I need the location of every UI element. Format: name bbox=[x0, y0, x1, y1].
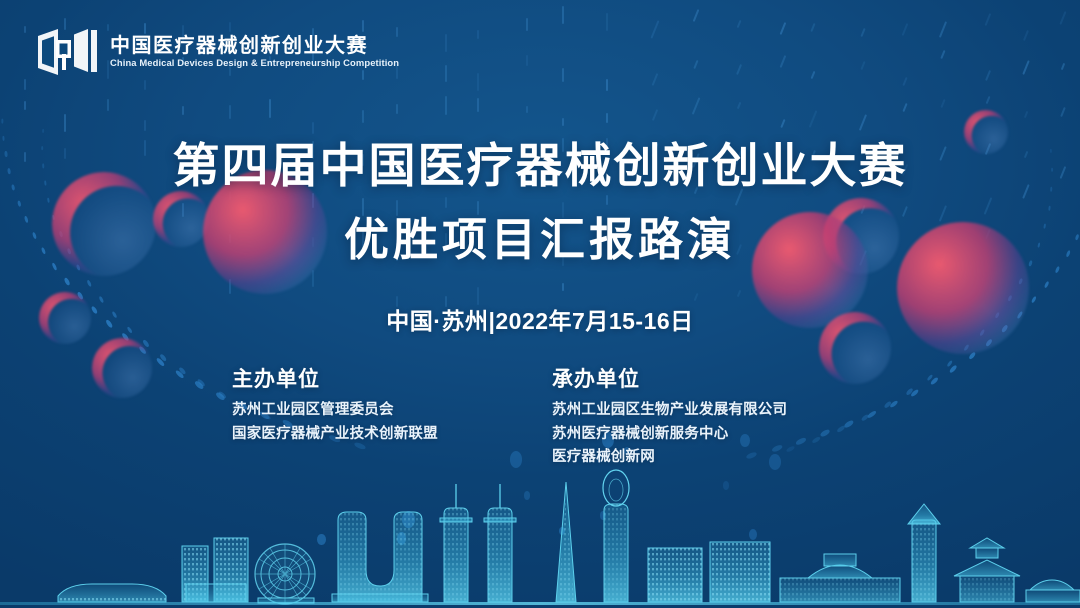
organizer-entry: 苏州医疗器械创新服务中心 bbox=[552, 423, 862, 446]
organizer-entry: 苏州工业园区管理委员会 bbox=[232, 399, 542, 422]
event-poster: 中国医疗器械创新创业大赛 China Medical Devices Desig… bbox=[0, 0, 1080, 608]
organizer-column-host: 主办单位 苏州工业园区管理委员会 国家医疗器械产业技术创新联盟 bbox=[218, 368, 542, 470]
headline-line-1: 第四届中国医疗器械创新创业大赛 bbox=[0, 127, 1080, 196]
organizer-entry: 苏州工业园区生物产业发展有限公司 bbox=[552, 399, 862, 422]
organizer-heading: 主办单位 bbox=[232, 368, 542, 391]
organizer-column-coorganizer: 承办单位 苏州工业园区生物产业发展有限公司 苏州医疗器械创新服务中心 医疗器械创… bbox=[542, 368, 862, 470]
headline-line-2: 优胜项目汇报路演 bbox=[0, 203, 1080, 268]
event-date-location: 中国·苏州|2022年7月15-16日 bbox=[0, 302, 1080, 336]
organizers-section: 主办单位 苏州工业园区管理委员会 国家医疗器械产业技术创新联盟 承办单位 苏州工… bbox=[0, 368, 1080, 470]
poster-content: 第四届中国医疗器械创新创业大赛 优胜项目汇报路演 中国·苏州|2022年7月15… bbox=[0, 0, 1080, 608]
organizer-entry: 医疗器械创新网 bbox=[552, 446, 862, 469]
organizer-heading: 承办单位 bbox=[552, 368, 862, 391]
organizer-entry: 国家医疗器械产业技术创新联盟 bbox=[232, 423, 542, 446]
